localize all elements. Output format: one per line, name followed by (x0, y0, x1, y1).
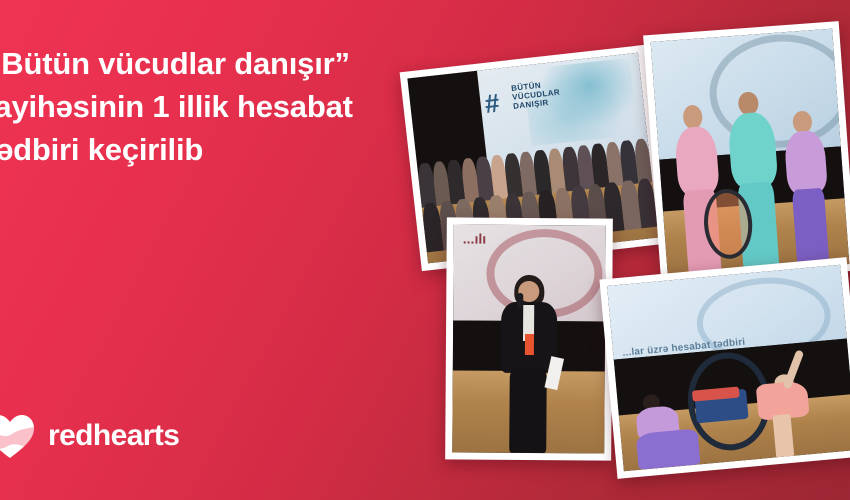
speaker-photo[interactable]: ...ılı ...tədbiri (445, 217, 613, 460)
hashtag-glyph: # (483, 89, 500, 116)
headline-line-3: tədbiri keçirilib (0, 128, 406, 171)
promo-banner: “Bütün vücudlar danışır” layihəsinin 1 i… (0, 0, 850, 500)
trio-performers-photo[interactable] (643, 21, 850, 285)
trio-photo-image (651, 29, 850, 278)
speaker-badge (525, 334, 534, 355)
headline-line-1: “Bütün vücudlar danışır” (0, 42, 406, 85)
speaker-figure (498, 275, 560, 453)
projection-heading: BÜTÜN VÜCUDLAR DANIŞIR (511, 78, 562, 110)
microphone-icon (517, 293, 523, 309)
wheelchair-dance-photo[interactable]: ...lar üzrə hesabat tədbiri (599, 257, 850, 479)
logo-wordmark: redhearts (48, 419, 179, 453)
heart-icon (0, 412, 36, 460)
speaker-photo-image: ...ılı ...tədbiri (452, 224, 606, 453)
standing-dancer-pink (745, 352, 833, 459)
page-title: “Bütün vücudlar danışır” layihəsinin 1 i… (0, 42, 406, 171)
projection-top-text: ...ılı (463, 230, 486, 246)
dance-photo-image: ...lar üzrə hesabat tədbiri (607, 265, 850, 471)
redhearts-logo[interactable]: redhearts (0, 412, 179, 460)
headline-line-2: layihəsinin 1 illik hesabat (0, 85, 406, 128)
